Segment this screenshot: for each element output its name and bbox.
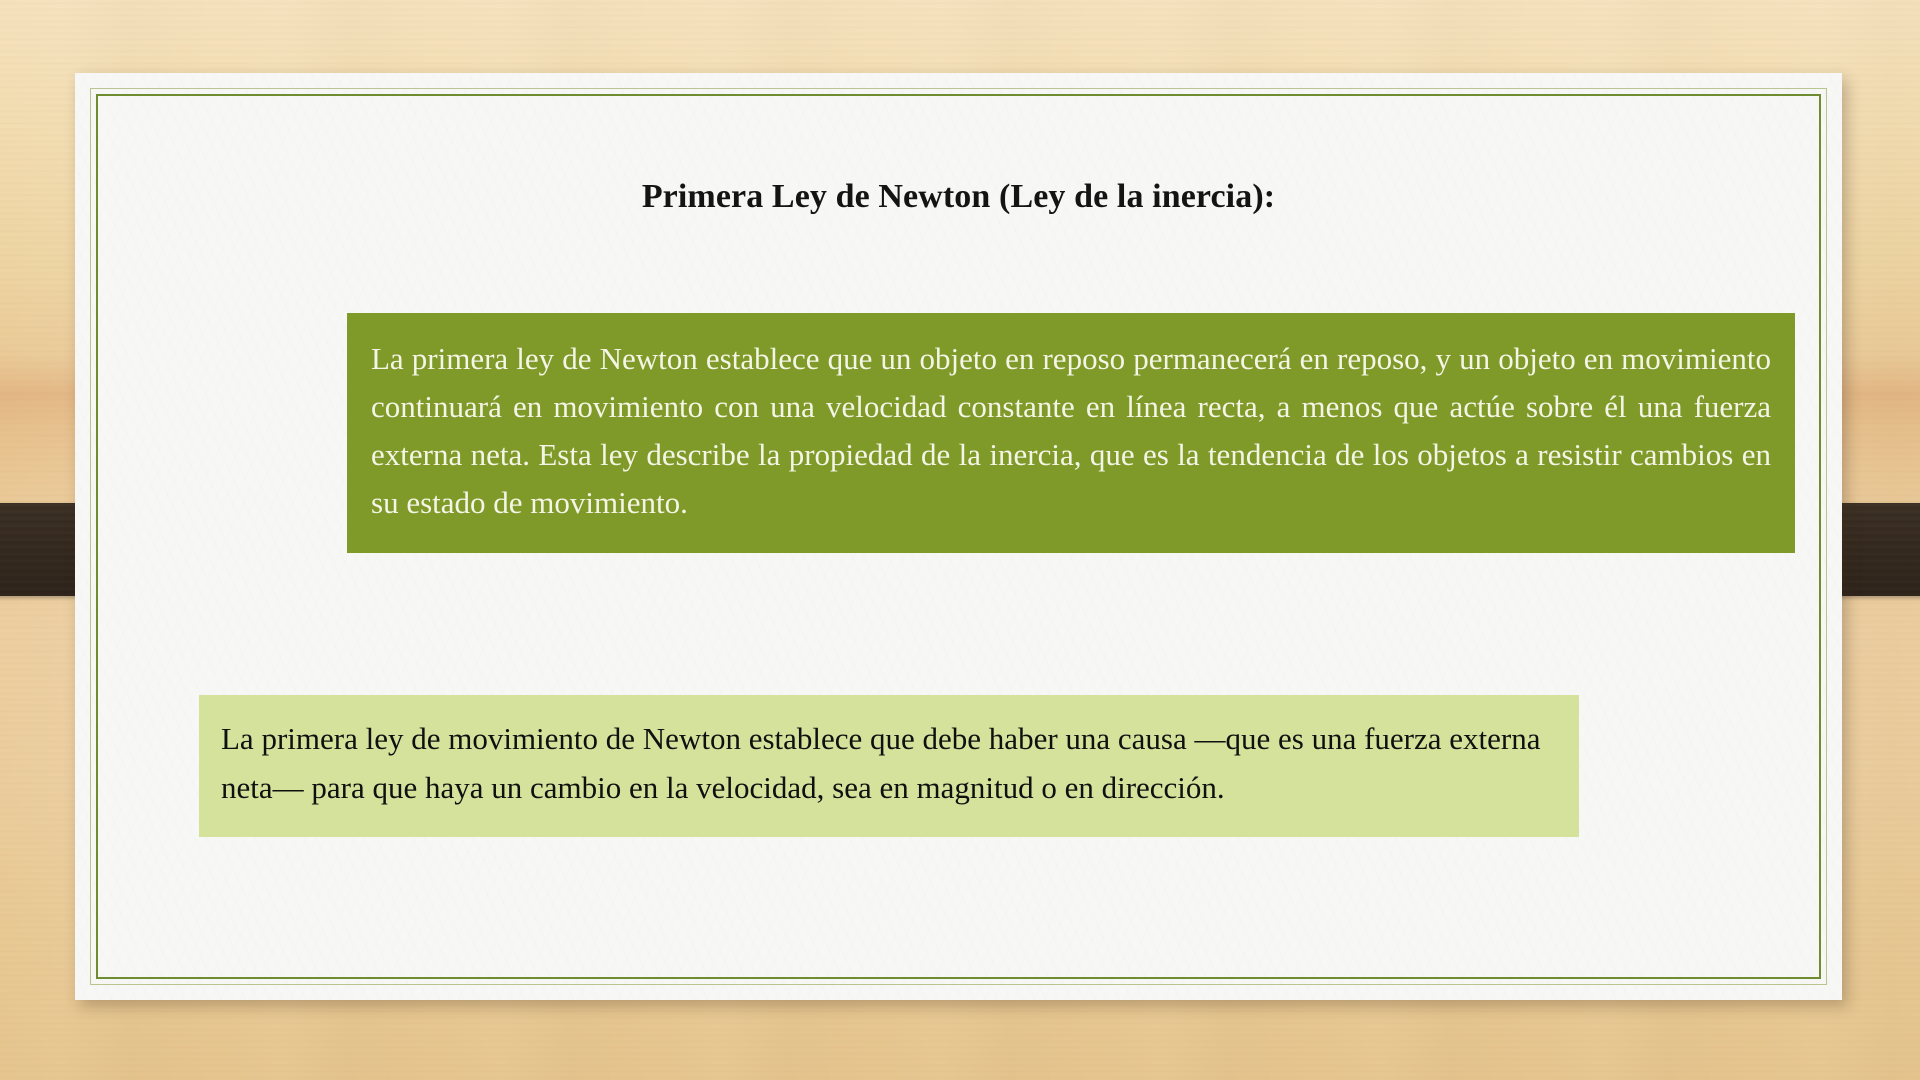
slide-title: Primera Ley de Newton (Ley de la inercia… xyxy=(75,176,1842,219)
secondary-text-box: La primera ley de movimiento de Newton e… xyxy=(199,695,1579,837)
primary-text-box: La primera ley de Newton establece que u… xyxy=(347,313,1795,553)
slide-content: Primera Ley de Newton (Ley de la inercia… xyxy=(75,73,1842,1000)
slide-card: Primera Ley de Newton (Ley de la inercia… xyxy=(75,73,1842,1000)
